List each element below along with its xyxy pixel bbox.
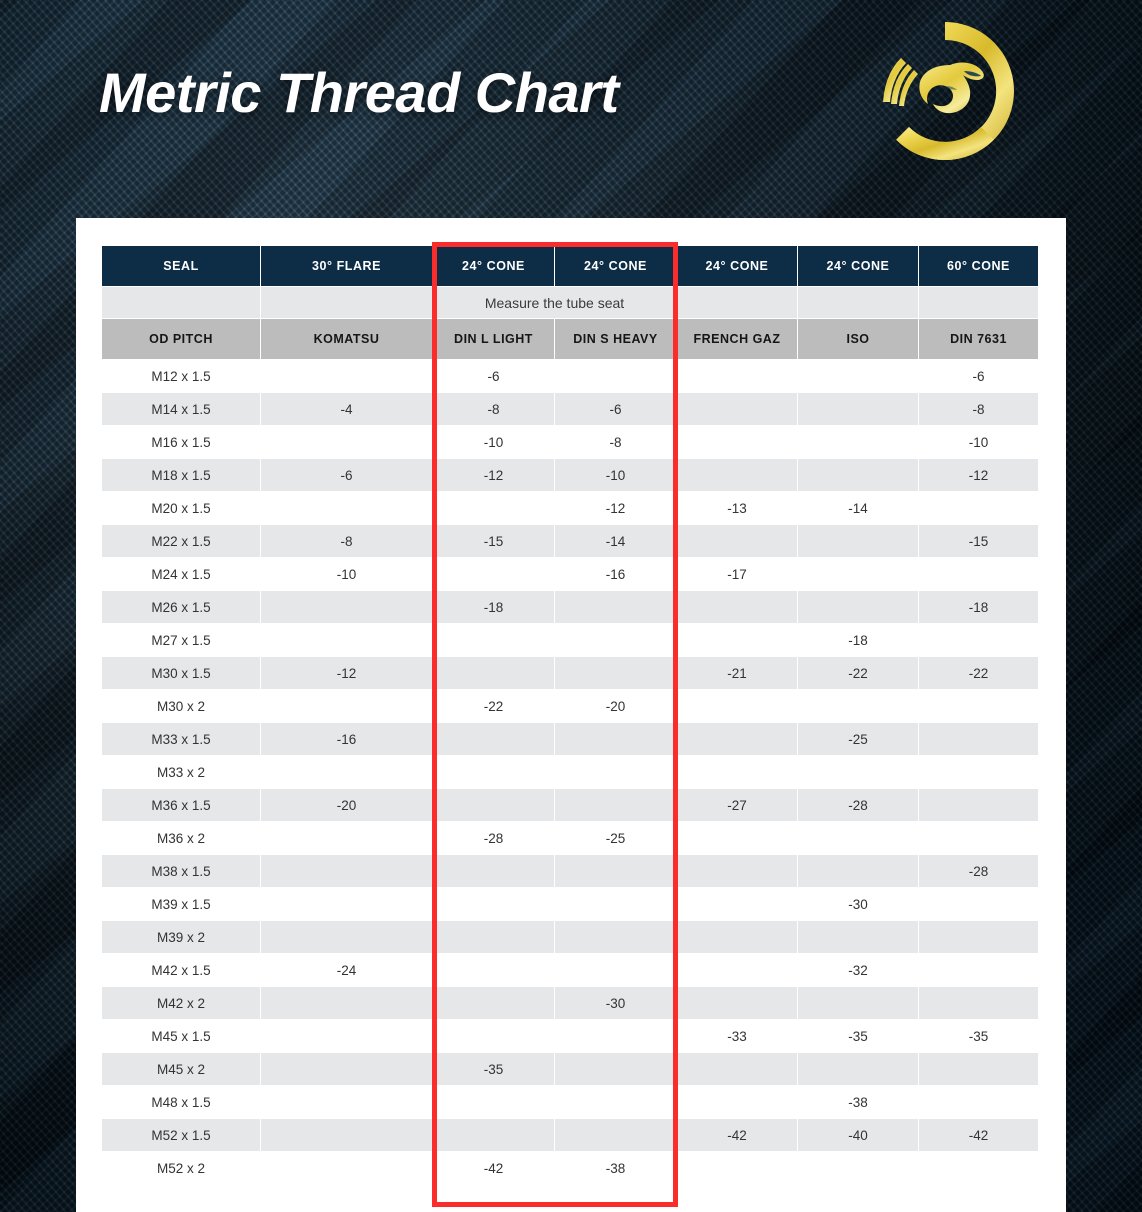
cell-od-pitch: M39 x 2 <box>102 921 261 954</box>
cell-din-7631 <box>919 1053 1039 1086</box>
cell-french-gaz: -13 <box>677 492 798 525</box>
table-row: M39 x 1.5-30 <box>102 888 1039 921</box>
cell-din-l-light <box>433 789 555 822</box>
cell-french-gaz <box>677 822 798 855</box>
cell-komatsu <box>261 360 433 393</box>
cell-din-l-light: -35 <box>433 1053 555 1086</box>
cell-iso <box>798 360 919 393</box>
cell-din-7631 <box>919 921 1039 954</box>
cell-komatsu: -10 <box>261 558 433 591</box>
cell-od-pitch: M16 x 1.5 <box>102 426 261 459</box>
cell-iso <box>798 558 919 591</box>
cell-od-pitch: M22 x 1.5 <box>102 525 261 558</box>
sub-header-din-s-heavy: DIN S HEAVY <box>555 319 677 360</box>
cell-din-s-heavy: -30 <box>555 987 677 1020</box>
cell-french-gaz <box>677 855 798 888</box>
cell-french-gaz <box>677 591 798 624</box>
cell-din-s-heavy <box>555 657 677 690</box>
cell-din-l-light <box>433 888 555 921</box>
table-row: M27 x 1.5-18 <box>102 624 1039 657</box>
cell-komatsu <box>261 426 433 459</box>
cell-din-s-heavy: -10 <box>555 459 677 492</box>
sub-header-french-gaz: FRENCH GAZ <box>677 319 798 360</box>
cell-iso <box>798 459 919 492</box>
cell-od-pitch: M42 x 1.5 <box>102 954 261 987</box>
cell-din-l-light <box>433 492 555 525</box>
table-row: M18 x 1.5-6-12-10-12 <box>102 459 1039 492</box>
cell-od-pitch: M27 x 1.5 <box>102 624 261 657</box>
cell-din-7631 <box>919 756 1039 789</box>
cell-iso: -32 <box>798 954 919 987</box>
cell-din-s-heavy: -20 <box>555 690 677 723</box>
cell-komatsu: -4 <box>261 393 433 426</box>
cell-french-gaz <box>677 690 798 723</box>
cell-din-s-heavy: -14 <box>555 525 677 558</box>
cell-french-gaz: -42 <box>677 1119 798 1152</box>
table-row: M48 x 1.5-38 <box>102 1086 1039 1119</box>
note-spacer-din7631 <box>919 287 1039 319</box>
cell-od-pitch: M42 x 2 <box>102 987 261 1020</box>
cell-iso: -35 <box>798 1020 919 1053</box>
table-row: M52 x 2-42-38 <box>102 1152 1039 1185</box>
cell-din-7631 <box>919 789 1039 822</box>
cell-din-s-heavy <box>555 1119 677 1152</box>
cell-od-pitch: M14 x 1.5 <box>102 393 261 426</box>
cell-din-s-heavy <box>555 855 677 888</box>
cell-din-s-heavy <box>555 591 677 624</box>
cell-din-7631 <box>919 624 1039 657</box>
cell-french-gaz: -27 <box>677 789 798 822</box>
cell-din-7631: -12 <box>919 459 1039 492</box>
cell-od-pitch: M20 x 1.5 <box>102 492 261 525</box>
table-row: M20 x 1.5-12-13-14 <box>102 492 1039 525</box>
note-spacer-seal <box>102 287 261 319</box>
cell-din-7631: -15 <box>919 525 1039 558</box>
cell-din-7631: -18 <box>919 591 1039 624</box>
cell-komatsu: -24 <box>261 954 433 987</box>
cell-din-s-heavy <box>555 954 677 987</box>
cell-iso <box>798 756 919 789</box>
table-row: M36 x 2-28-25 <box>102 822 1039 855</box>
cell-komatsu <box>261 690 433 723</box>
cell-din-7631: -35 <box>919 1020 1039 1053</box>
cell-din-s-heavy <box>555 624 677 657</box>
cell-french-gaz <box>677 954 798 987</box>
cell-od-pitch: M12 x 1.5 <box>102 360 261 393</box>
cell-iso: -25 <box>798 723 919 756</box>
cell-din-7631 <box>919 987 1039 1020</box>
cell-din-7631 <box>919 822 1039 855</box>
group-header-30-flare: 30° FLARE <box>261 246 433 287</box>
table-row: M33 x 2 <box>102 756 1039 789</box>
group-header-24-cone-iso: 24° CONE <box>798 246 919 287</box>
sub-header-din-l-light: DIN L LIGHT <box>433 319 555 360</box>
cell-french-gaz <box>677 1086 798 1119</box>
cell-komatsu <box>261 987 433 1020</box>
cell-french-gaz <box>677 1152 798 1185</box>
cell-iso <box>798 921 919 954</box>
table-row: M30 x 1.5-12-21-22-22 <box>102 657 1039 690</box>
sub-header-iso: ISO <box>798 319 919 360</box>
cell-din-l-light: -8 <box>433 393 555 426</box>
table-body: M12 x 1.5-6-6M14 x 1.5-4-8-6-8M16 x 1.5-… <box>102 360 1039 1185</box>
table-note-row: Measure the tube seat <box>102 287 1039 319</box>
cell-iso: -22 <box>798 657 919 690</box>
group-header-60-cone: 60° CONE <box>919 246 1039 287</box>
cell-od-pitch: M36 x 1.5 <box>102 789 261 822</box>
measure-tube-seat-note: Measure the tube seat <box>433 287 677 319</box>
cell-iso <box>798 525 919 558</box>
cell-din-l-light <box>433 558 555 591</box>
cell-din-7631 <box>919 723 1039 756</box>
cell-komatsu <box>261 822 433 855</box>
cell-komatsu <box>261 921 433 954</box>
cell-french-gaz: -33 <box>677 1020 798 1053</box>
cell-din-l-light: -12 <box>433 459 555 492</box>
cell-din-s-heavy <box>555 888 677 921</box>
cell-french-gaz <box>677 360 798 393</box>
cell-din-l-light <box>433 624 555 657</box>
cell-din-s-heavy <box>555 756 677 789</box>
cell-din-l-light <box>433 657 555 690</box>
table-row: M36 x 1.5-20-27-28 <box>102 789 1039 822</box>
table-row: M38 x 1.5-28 <box>102 855 1039 888</box>
cell-din-l-light <box>433 954 555 987</box>
cobra-logo-icon <box>852 10 1038 176</box>
cell-din-l-light: -18 <box>433 591 555 624</box>
cell-french-gaz <box>677 921 798 954</box>
page-title: Metric Thread Chart <box>99 60 619 125</box>
cell-iso <box>798 1152 919 1185</box>
cell-od-pitch: M45 x 2 <box>102 1053 261 1086</box>
cell-komatsu <box>261 1053 433 1086</box>
group-header-seal: SEAL <box>102 246 261 287</box>
cell-komatsu: -16 <box>261 723 433 756</box>
cell-iso: -14 <box>798 492 919 525</box>
cell-komatsu <box>261 855 433 888</box>
cell-din-l-light: -42 <box>433 1152 555 1185</box>
cell-din-7631 <box>919 1086 1039 1119</box>
cell-din-7631: -8 <box>919 393 1039 426</box>
cell-din-7631 <box>919 888 1039 921</box>
cell-iso: -38 <box>798 1086 919 1119</box>
cell-iso <box>798 426 919 459</box>
cell-od-pitch: M30 x 1.5 <box>102 657 261 690</box>
cell-din-s-heavy <box>555 360 677 393</box>
cell-din-7631 <box>919 492 1039 525</box>
cell-komatsu <box>261 756 433 789</box>
cell-din-l-light: -6 <box>433 360 555 393</box>
cell-iso <box>798 855 919 888</box>
cell-din-l-light: -10 <box>433 426 555 459</box>
table-row: M14 x 1.5-4-8-6-8 <box>102 393 1039 426</box>
cell-din-l-light <box>433 1119 555 1152</box>
cell-iso <box>798 591 919 624</box>
group-header-24-cone-french: 24° CONE <box>677 246 798 287</box>
note-spacer-french <box>677 287 798 319</box>
cell-din-s-heavy: -12 <box>555 492 677 525</box>
cell-din-s-heavy: -8 <box>555 426 677 459</box>
group-header-24-cone-din-l: 24° CONE <box>433 246 555 287</box>
table-row: M42 x 2-30 <box>102 987 1039 1020</box>
cell-od-pitch: M38 x 1.5 <box>102 855 261 888</box>
cell-iso: -28 <box>798 789 919 822</box>
cell-din-l-light <box>433 987 555 1020</box>
cell-french-gaz <box>677 393 798 426</box>
note-spacer-iso <box>798 287 919 319</box>
cell-od-pitch: M24 x 1.5 <box>102 558 261 591</box>
cell-french-gaz <box>677 624 798 657</box>
cell-iso: -30 <box>798 888 919 921</box>
cell-din-s-heavy <box>555 789 677 822</box>
cell-din-l-light: -15 <box>433 525 555 558</box>
cell-komatsu <box>261 1086 433 1119</box>
cell-komatsu: -12 <box>261 657 433 690</box>
cell-din-l-light <box>433 1020 555 1053</box>
cell-french-gaz <box>677 723 798 756</box>
cell-din-7631: -28 <box>919 855 1039 888</box>
cell-din-l-light <box>433 723 555 756</box>
table-group-header-row: SEAL 30° FLARE 24° CONE 24° CONE 24° CON… <box>102 246 1039 287</box>
cell-od-pitch: M52 x 2 <box>102 1152 261 1185</box>
cell-od-pitch: M33 x 2 <box>102 756 261 789</box>
cell-french-gaz <box>677 1053 798 1086</box>
table-row: M45 x 1.5-33-35-35 <box>102 1020 1039 1053</box>
cell-din-7631 <box>919 690 1039 723</box>
table-sub-header-row: OD PITCH KOMATSU DIN L LIGHT DIN S HEAVY… <box>102 319 1039 360</box>
cell-iso <box>798 1053 919 1086</box>
cell-din-7631 <box>919 558 1039 591</box>
table-row: M45 x 2-35 <box>102 1053 1039 1086</box>
table-row: M33 x 1.5-16-25 <box>102 723 1039 756</box>
cell-french-gaz <box>677 756 798 789</box>
cell-din-7631: -10 <box>919 426 1039 459</box>
table-row: M24 x 1.5-10-16-17 <box>102 558 1039 591</box>
cell-komatsu: -6 <box>261 459 433 492</box>
cell-din-s-heavy <box>555 723 677 756</box>
cell-french-gaz <box>677 987 798 1020</box>
cell-od-pitch: M39 x 1.5 <box>102 888 261 921</box>
table-row: M52 x 1.5-42-40-42 <box>102 1119 1039 1152</box>
cell-din-7631: -6 <box>919 360 1039 393</box>
cell-french-gaz <box>677 888 798 921</box>
cell-komatsu <box>261 1020 433 1053</box>
cell-komatsu <box>261 492 433 525</box>
table-row: M16 x 1.5-10-8-10 <box>102 426 1039 459</box>
sub-header-komatsu: KOMATSU <box>261 319 433 360</box>
chart-card: SEAL 30° FLARE 24° CONE 24° CONE 24° CON… <box>76 218 1066 1212</box>
cell-od-pitch: M45 x 1.5 <box>102 1020 261 1053</box>
cell-din-s-heavy <box>555 1053 677 1086</box>
table-row: M42 x 1.5-24-32 <box>102 954 1039 987</box>
cell-french-gaz: -21 <box>677 657 798 690</box>
table-row: M26 x 1.5-18-18 <box>102 591 1039 624</box>
cell-od-pitch: M52 x 1.5 <box>102 1119 261 1152</box>
cell-french-gaz <box>677 525 798 558</box>
cell-komatsu <box>261 888 433 921</box>
cell-din-l-light <box>433 921 555 954</box>
cell-din-s-heavy: -38 <box>555 1152 677 1185</box>
cell-od-pitch: M30 x 2 <box>102 690 261 723</box>
cell-iso: -40 <box>798 1119 919 1152</box>
cell-iso <box>798 987 919 1020</box>
cell-od-pitch: M36 x 2 <box>102 822 261 855</box>
cell-komatsu: -20 <box>261 789 433 822</box>
table-row: M39 x 2 <box>102 921 1039 954</box>
cell-din-7631 <box>919 1152 1039 1185</box>
cell-french-gaz <box>677 459 798 492</box>
table-row: M30 x 2-22-20 <box>102 690 1039 723</box>
cell-komatsu <box>261 1152 433 1185</box>
cell-od-pitch: M26 x 1.5 <box>102 591 261 624</box>
cell-od-pitch: M18 x 1.5 <box>102 459 261 492</box>
metric-thread-table: SEAL 30° FLARE 24° CONE 24° CONE 24° CON… <box>101 245 1039 1185</box>
cell-din-7631: -42 <box>919 1119 1039 1152</box>
cell-din-s-heavy <box>555 1086 677 1119</box>
cell-din-l-light <box>433 756 555 789</box>
cell-komatsu <box>261 624 433 657</box>
cell-od-pitch: M48 x 1.5 <box>102 1086 261 1119</box>
cell-din-s-heavy: -6 <box>555 393 677 426</box>
cell-od-pitch: M33 x 1.5 <box>102 723 261 756</box>
cell-iso: -18 <box>798 624 919 657</box>
cell-din-7631 <box>919 954 1039 987</box>
cell-din-l-light: -22 <box>433 690 555 723</box>
cell-komatsu <box>261 591 433 624</box>
cell-komatsu: -8 <box>261 525 433 558</box>
cell-french-gaz <box>677 426 798 459</box>
cell-din-l-light <box>433 1086 555 1119</box>
cell-iso <box>798 822 919 855</box>
cell-komatsu <box>261 1119 433 1152</box>
cell-din-s-heavy <box>555 1020 677 1053</box>
cell-french-gaz: -17 <box>677 558 798 591</box>
cell-din-l-light: -28 <box>433 822 555 855</box>
table-row: M12 x 1.5-6-6 <box>102 360 1039 393</box>
cell-din-s-heavy: -25 <box>555 822 677 855</box>
cell-iso <box>798 690 919 723</box>
table-row: M22 x 1.5-8-15-14-15 <box>102 525 1039 558</box>
cell-din-s-heavy: -16 <box>555 558 677 591</box>
cell-din-7631: -22 <box>919 657 1039 690</box>
group-header-24-cone-din-s: 24° CONE <box>555 246 677 287</box>
cell-iso <box>798 393 919 426</box>
sub-header-din-7631: DIN 7631 <box>919 319 1039 360</box>
cell-din-s-heavy <box>555 921 677 954</box>
sub-header-od-pitch: OD PITCH <box>102 319 261 360</box>
note-spacer-komatsu <box>261 287 433 319</box>
cell-din-l-light <box>433 855 555 888</box>
